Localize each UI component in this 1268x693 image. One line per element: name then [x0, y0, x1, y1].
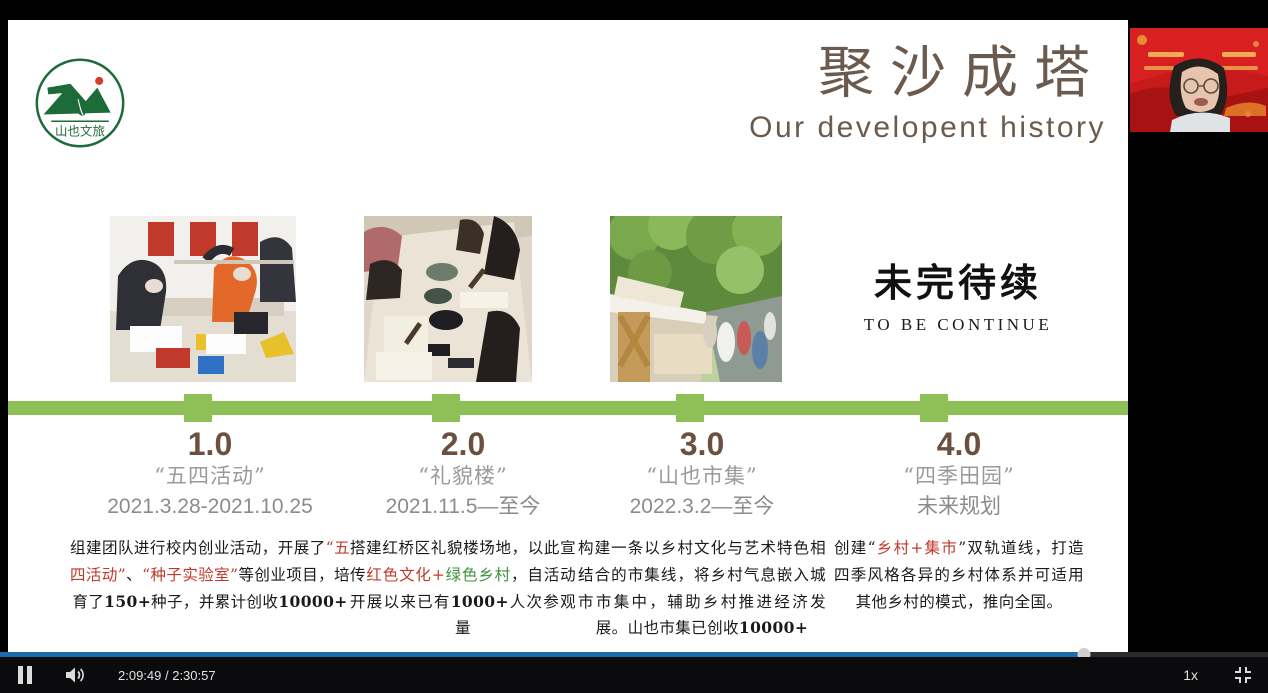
- column-2-version: 2.0: [350, 428, 576, 462]
- photo-activity-3: [610, 216, 782, 382]
- column-1-version: 1.0: [70, 428, 350, 462]
- text-run: 种子，并累计创收: [151, 593, 278, 611]
- logo-text: 山也文旅: [55, 124, 105, 139]
- column-3-name: “山也市集”: [578, 463, 826, 490]
- player-left-controls: 2:09:49 / 2:30:57: [14, 657, 216, 693]
- text-run: 、: [126, 566, 142, 584]
- playback-speed-button[interactable]: 1x: [1183, 667, 1198, 683]
- timeline-column-2: 2.0 “礼貌楼” 2021.11.5—至今 搭建红桥区礼貌楼场地，以此宣传红色…: [350, 428, 576, 642]
- company-logo: 山也文旅: [32, 55, 128, 151]
- headline-chinese: 聚沙成塔: [472, 40, 1112, 107]
- timeline-node-1: [184, 394, 212, 422]
- photo-activity-2: [364, 216, 532, 382]
- tbc-english: TO BE CONTINUE: [828, 315, 1088, 335]
- timeline-column-4: 4.0 “四季田园” 未来规划 创建“乡村+集市”双轨道线，打造四季风格各异的乡…: [834, 428, 1084, 615]
- text-run: 10000+: [739, 618, 808, 637]
- photo-3-image: [610, 216, 782, 382]
- text-run: 10000+: [278, 592, 347, 611]
- exit-fullscreen-icon: [1234, 666, 1252, 684]
- timeline-bar: [8, 401, 1128, 415]
- exit-fullscreen-button[interactable]: [1232, 664, 1254, 686]
- presenter-webcam[interactable]: [1130, 28, 1268, 132]
- text-run: 1000+: [451, 592, 509, 611]
- text-run: 乡村+集市: [876, 539, 958, 557]
- player-right-controls: 1x: [1183, 657, 1254, 693]
- logo-mark-icon: 山也文旅: [32, 55, 128, 151]
- player-control-bar: 2:09:49 / 2:30:57 1x: [0, 657, 1268, 693]
- pause-icon: [17, 666, 33, 684]
- photo-activity-1: [110, 216, 296, 382]
- column-2-date: 2021.11.5—至今: [350, 493, 576, 521]
- timeline-node-3: [676, 394, 704, 422]
- photo-2-image: [364, 216, 532, 382]
- column-4-body: 创建“乡村+集市”双轨道线，打造四季风格各异的乡村体系并可适用其他乡村的模式，推…: [834, 535, 1084, 615]
- slide-headline: 聚沙成塔 Our developent history: [472, 40, 1112, 145]
- column-3-body: 构建一条以乡村文化与艺术特色相结合的市集线，将乡村气息嵌入城市市集中，辅助乡村推…: [578, 535, 826, 642]
- volume-button[interactable]: [64, 664, 86, 686]
- to-be-continued-block: 未完待续 TO BE CONTINUE: [828, 252, 1088, 335]
- pause-button[interactable]: [14, 664, 36, 686]
- text-run: +: [432, 566, 445, 584]
- column-2-body: 搭建红桥区礼貌楼场地，以此宣传红色文化+绿色乡村，自活动开展以来已有1000+人…: [350, 535, 576, 642]
- timeline-column-3: 3.0 “山也市集” 2022.3.2—至今 构建一条以乡村文化与艺术特色相结合…: [578, 428, 826, 642]
- column-4-date: 未来规划: [834, 493, 1084, 521]
- photo-1-image: [110, 216, 296, 382]
- webcam-video-frame: [1130, 28, 1268, 132]
- column-1-body: 组建团队进行校内创业活动，开展了“五四活动”、“种子实验室”等创业项目，培育了1…: [70, 535, 350, 615]
- column-1-name: “五四活动”: [70, 463, 350, 490]
- text-run: 创建“: [834, 539, 876, 557]
- text-run: “种子实验室”: [142, 566, 238, 584]
- column-1-date: 2021.3.28-2021.10.25: [70, 493, 350, 521]
- text-run: 绿色乡村: [445, 566, 511, 584]
- column-4-version: 4.0: [834, 428, 1084, 462]
- timeline-node-2: [432, 394, 460, 422]
- column-4-name: “四季田园”: [834, 463, 1084, 490]
- timeline-node-4: [920, 394, 948, 422]
- volume-icon: [65, 666, 85, 684]
- column-3-date: 2022.3.2—至今: [578, 493, 826, 521]
- text-run: 红色文化: [366, 566, 431, 584]
- column-3-version: 3.0: [578, 428, 826, 462]
- text-run: 组建团队进行校内创业活动，开展了: [70, 539, 326, 557]
- text-run: 150+: [104, 592, 151, 611]
- video-player-page: 山也文旅 聚沙成塔 Our developent history: [0, 0, 1268, 693]
- headline-english: Our developent history: [472, 111, 1112, 145]
- presentation-slide: 山也文旅 聚沙成塔 Our developent history: [8, 20, 1128, 656]
- timeline-column-1: 1.0 “五四活动” 2021.3.28-2021.10.25 组建团队进行校内…: [70, 428, 350, 615]
- column-2-name: “礼貌楼”: [350, 463, 576, 490]
- tbc-chinese: 未完待续: [828, 252, 1088, 307]
- time-display: 2:09:49 / 2:30:57: [118, 668, 216, 683]
